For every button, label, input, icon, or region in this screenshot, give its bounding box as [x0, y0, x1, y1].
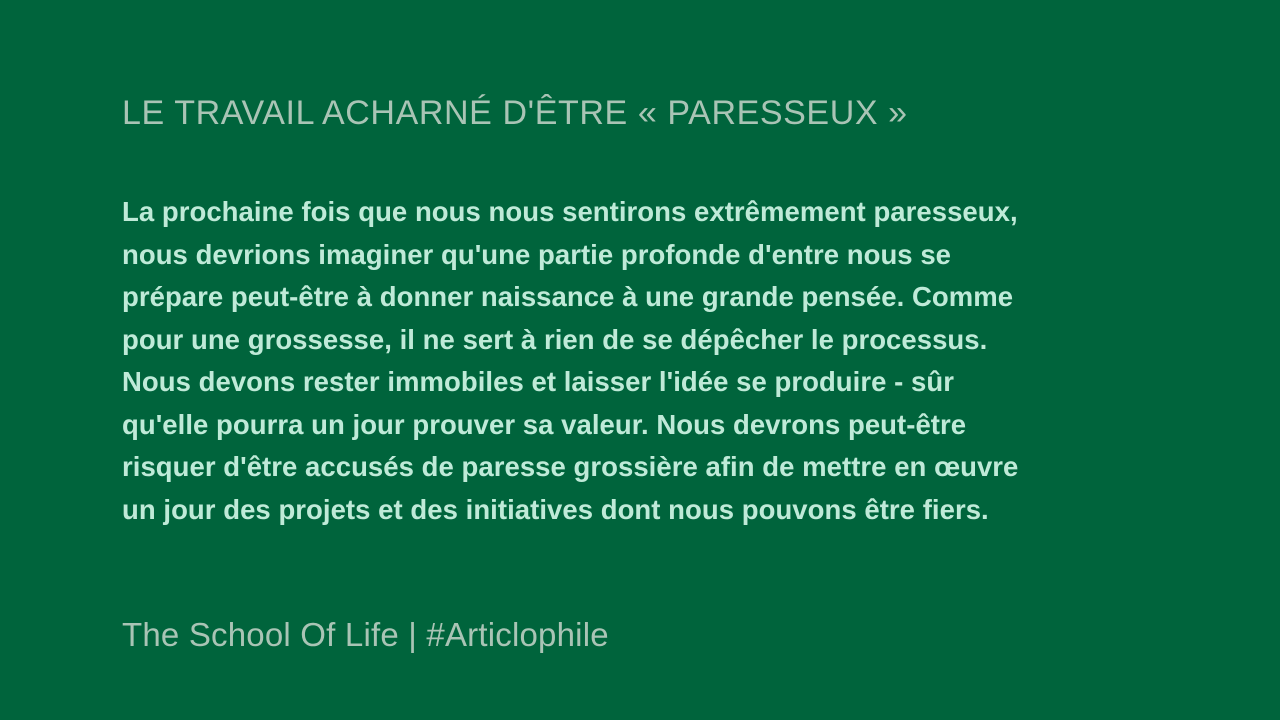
footer-attribution: The School Of Life | #Articlophile: [122, 612, 609, 658]
quote-line: nous devrions imaginer qu'une partie pro…: [122, 234, 1082, 277]
quote-line: prépare peut-être à donner naissance à u…: [122, 276, 1082, 319]
quote-line: un jour des projets et des initiatives d…: [122, 489, 1082, 532]
quote-line: risquer d'être accusés de paresse grossi…: [122, 446, 1082, 489]
page-title: LE TRAVAIL ACHARNÉ D'ÊTRE « PARESSEUX »: [122, 89, 908, 137]
quote-body: La prochaine fois que nous nous sentiron…: [122, 191, 1082, 531]
quote-line: Nous devons rester immobiles et laisser …: [122, 361, 1082, 404]
quote-line: qu'elle pourra un jour prouver sa valeur…: [122, 404, 1082, 447]
quote-slide: LE TRAVAIL ACHARNÉ D'ÊTRE « PARESSEUX » …: [0, 0, 1280, 720]
quote-line: La prochaine fois que nous nous sentiron…: [122, 191, 1082, 234]
quote-line: pour une grossesse, il ne sert à rien de…: [122, 319, 1082, 362]
